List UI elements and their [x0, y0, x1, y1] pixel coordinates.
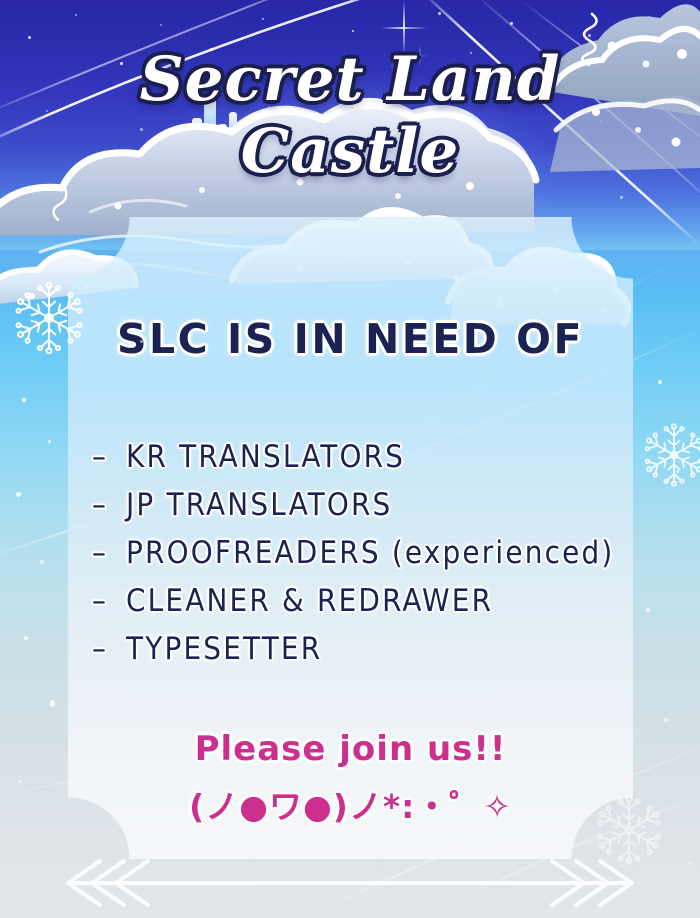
snow-dot: [18, 780, 21, 783]
title-line-1: Secret Land: [140, 44, 561, 115]
bullet-dash: –: [92, 577, 126, 625]
list-item: – CLEANER & REDRAWER: [92, 577, 633, 625]
snow-dot: [22, 398, 26, 402]
snow-dot: [16, 492, 21, 497]
list-item: – PROOFREADERS (experienced): [92, 529, 633, 577]
list-item: – TYPESETTER: [92, 625, 633, 673]
poster-canvas: Secret Land Castle: [0, 0, 700, 918]
bullet-dash: –: [92, 433, 126, 481]
snow-dot: [452, 700, 455, 703]
snow-dot: [676, 470, 679, 473]
kaomoji-decoration: (ノ●ワ●)ノ*:・゜✧: [68, 780, 633, 828]
section-heading: SLC IS IN NEED OF: [68, 315, 633, 363]
panel-content: SLC IS IN NEED OF – KR TRANSLATORS – JP …: [68, 217, 633, 859]
snow-dot: [664, 718, 668, 722]
bullet-dash: –: [92, 625, 126, 673]
snowflake-icon-right-mid: [640, 420, 700, 490]
list-item: – KR TRANSLATORS: [92, 433, 633, 481]
snow-dot: [40, 560, 44, 564]
call-to-action: Please join us!!: [68, 729, 633, 769]
bullet-dash: –: [92, 481, 126, 529]
list-item: – JP TRANSLATORS: [92, 481, 633, 529]
role-label: JP TRANSLATORS: [126, 481, 392, 529]
snow-dot: [50, 700, 55, 707]
snow-dot: [48, 440, 51, 443]
page-title: Secret Land Castle: [0, 44, 700, 188]
snow-dot: [140, 340, 143, 343]
roles-list: – KR TRANSLATORS – JP TRANSLATORS – PROO…: [92, 433, 633, 673]
snow-dot: [646, 608, 650, 612]
bullet-dash: –: [92, 529, 126, 577]
snow-dot: [250, 560, 253, 563]
role-label: KR TRANSLATORS: [126, 433, 405, 481]
snow-dot: [24, 636, 28, 640]
role-label: TYPESETTER: [126, 625, 322, 673]
role-label: PROOFREADERS (experienced): [126, 529, 614, 577]
title-line-2: Castle: [0, 116, 700, 188]
role-label: CLEANER & REDRAWER: [126, 577, 493, 625]
snow-dot: [658, 380, 662, 384]
